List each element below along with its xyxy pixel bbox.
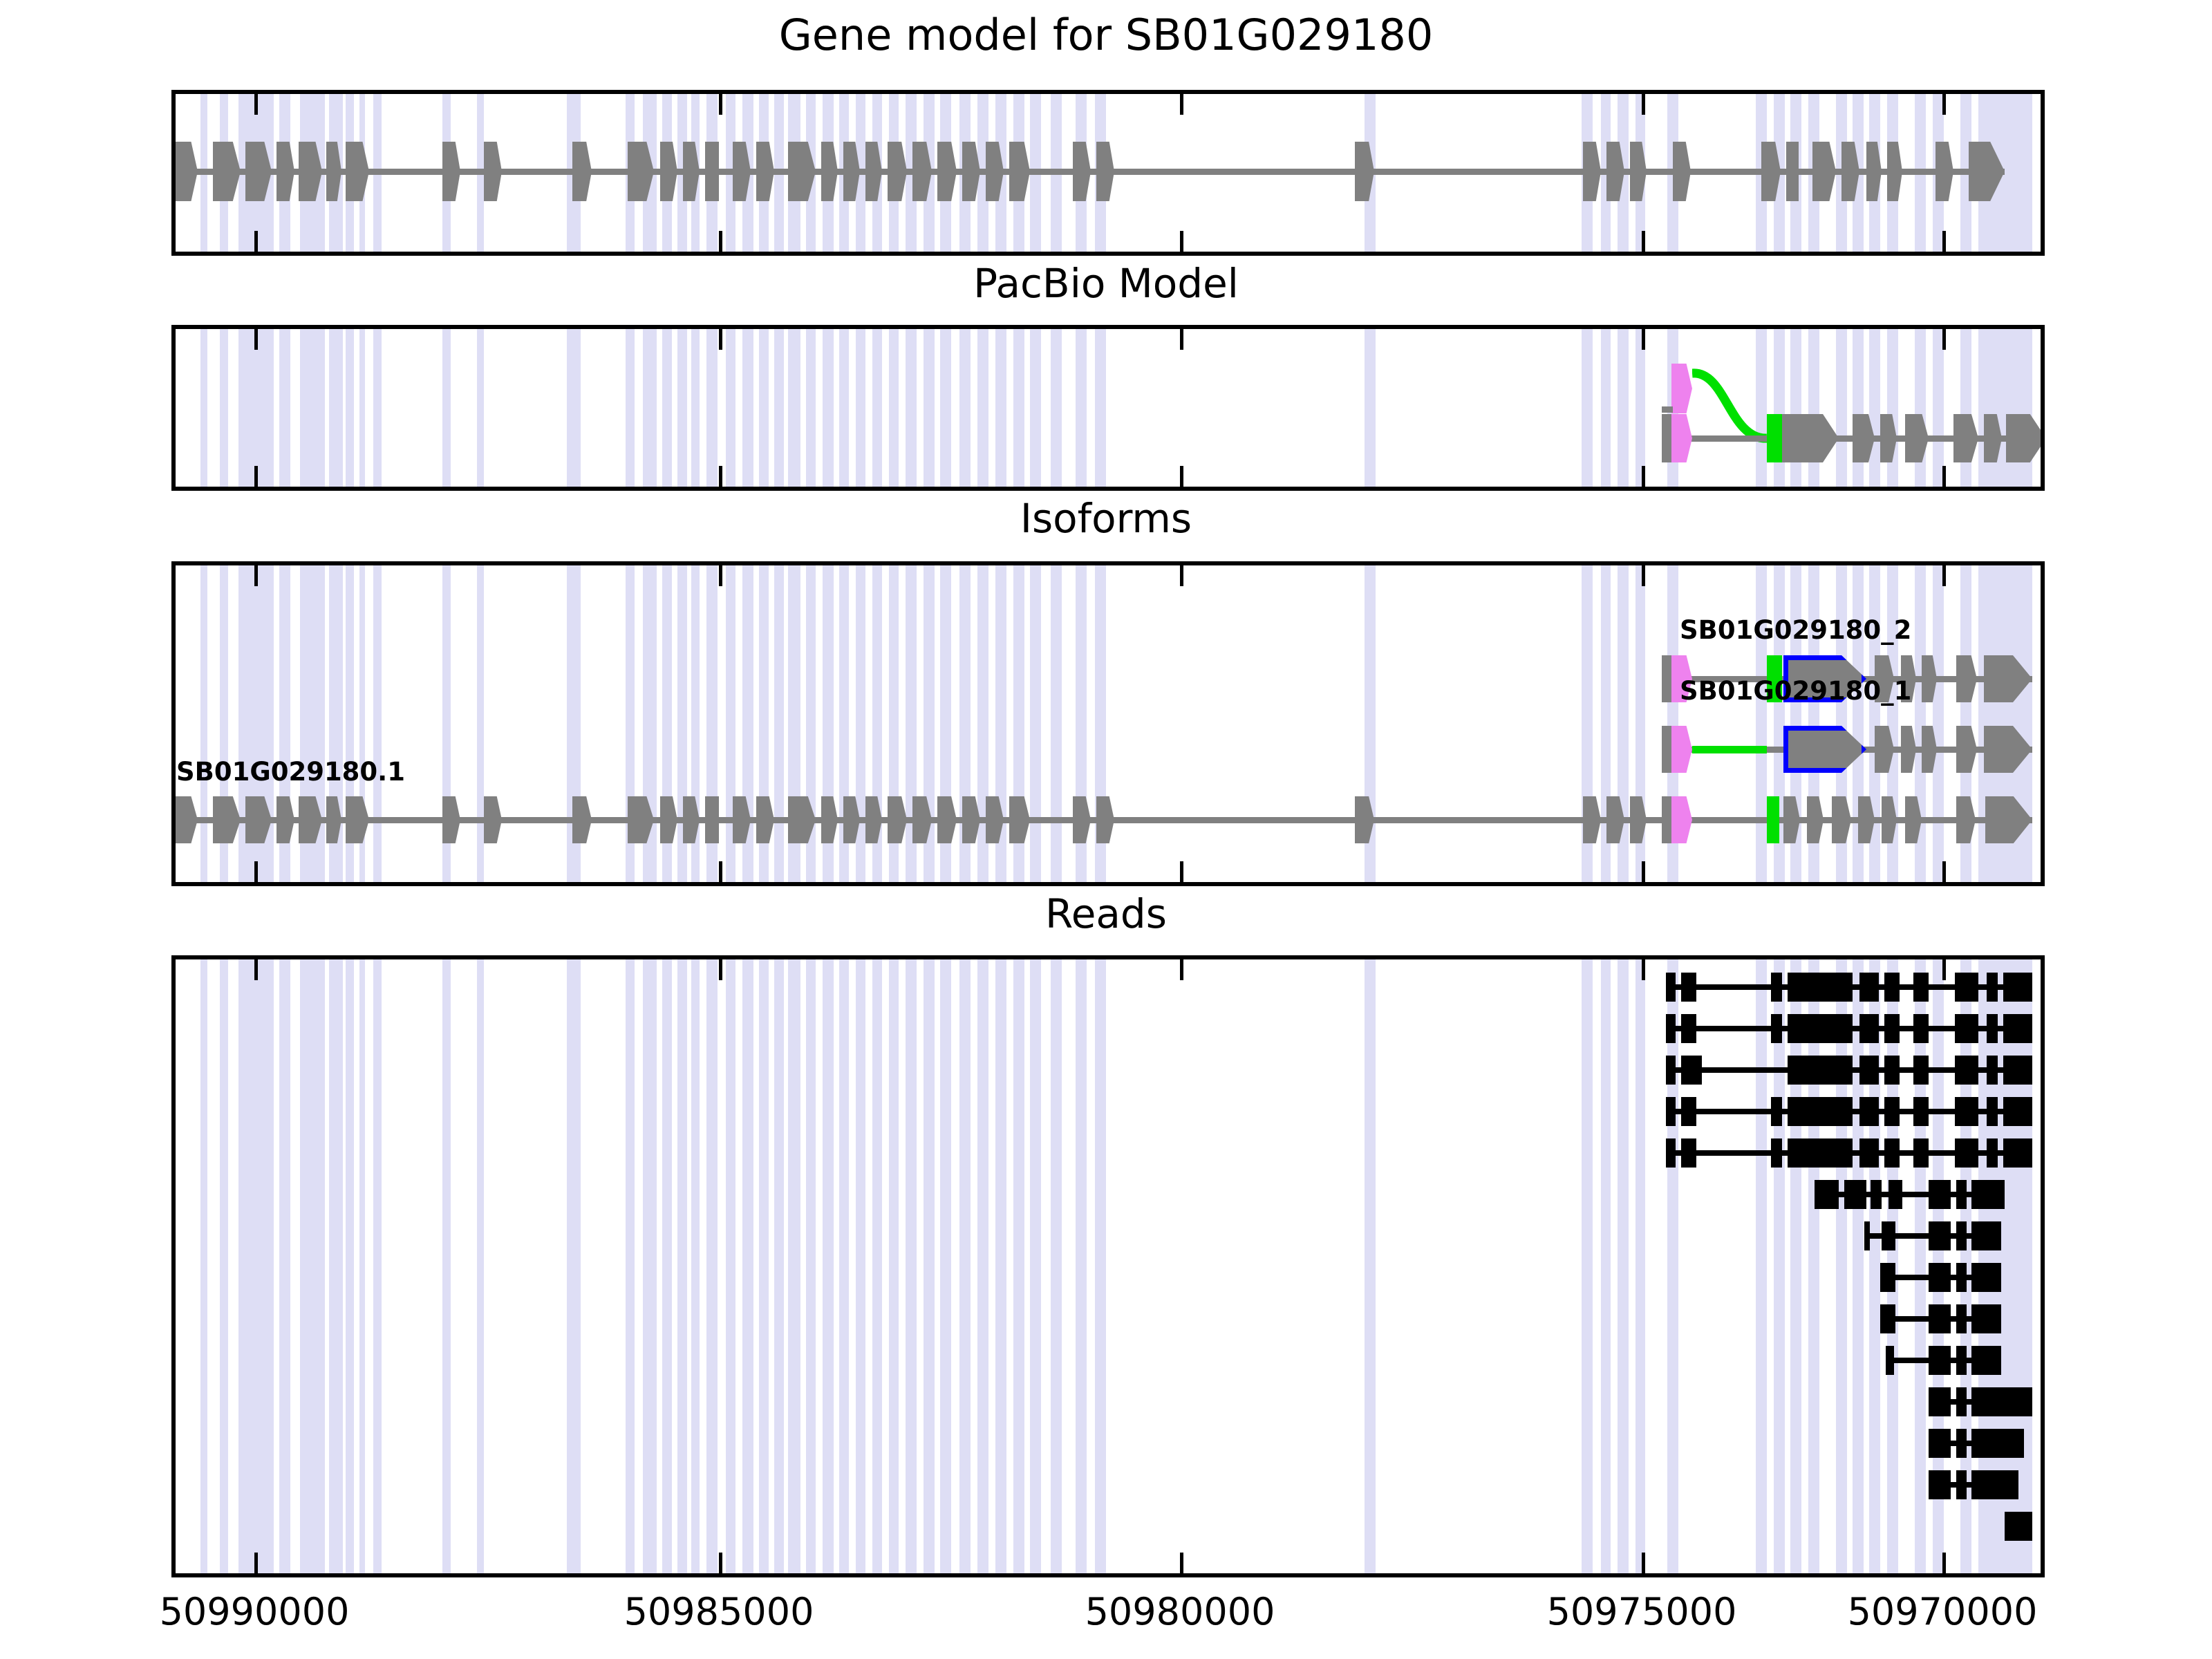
exon-block <box>1073 796 1091 843</box>
highlight-band <box>977 329 988 487</box>
exon-block-utr <box>1671 726 1692 773</box>
exon-block <box>213 142 241 201</box>
read-block <box>1884 1138 1900 1168</box>
exon-block <box>213 796 241 843</box>
read-block <box>1956 1180 1967 1209</box>
read-block <box>1666 1014 1676 1043</box>
read-block <box>1956 1387 1967 1416</box>
highlight-band <box>477 565 484 882</box>
axis-tick-bottom <box>719 231 722 252</box>
transcript-intron-line-alt <box>1662 406 1673 413</box>
highlight-band <box>300 959 325 1573</box>
read-block <box>1666 973 1676 1002</box>
highlight-band <box>706 959 718 1573</box>
highlight-band <box>995 329 1006 487</box>
highlight-band <box>220 959 228 1573</box>
exon-block <box>2006 414 2045 462</box>
axis-tick-bottom <box>1180 231 1183 252</box>
highlight-band <box>759 329 769 487</box>
highlight-band <box>1365 959 1376 1573</box>
highlight-band <box>1030 565 1041 882</box>
highlight-band <box>200 959 207 1573</box>
highlight-band <box>823 959 834 1573</box>
exon-block <box>1935 142 1953 201</box>
highlight-band <box>1051 959 1062 1573</box>
highlight-band <box>1978 329 2032 487</box>
read-block <box>1666 1056 1676 1085</box>
read-block <box>1987 973 1998 1002</box>
read-block <box>1913 1014 1929 1043</box>
axis-tick-bottom <box>1942 466 1946 487</box>
highlight-band <box>346 959 354 1573</box>
gene-model-plot-area <box>176 94 2041 252</box>
highlight-band <box>300 329 325 487</box>
read-block <box>1884 973 1900 1002</box>
axis-tick-top <box>719 565 722 586</box>
highlight-band <box>677 329 687 487</box>
axis-tick-bottom <box>1642 466 1645 487</box>
read-block <box>1971 1387 2032 1416</box>
exon-block-utr <box>1671 414 1692 462</box>
read-block <box>1987 1097 1998 1126</box>
highlight-band <box>1887 329 1898 487</box>
read-block <box>2003 973 2032 1002</box>
exon-block <box>705 142 719 201</box>
exon-block <box>1096 796 1114 843</box>
highlight-band <box>856 959 865 1573</box>
read-block <box>1955 973 1978 1002</box>
read-block <box>1859 1056 1879 1085</box>
read-block <box>1971 1470 2018 1499</box>
highlight-band <box>1960 329 1971 487</box>
read-block <box>2003 1138 2032 1168</box>
highlight-band <box>726 959 735 1573</box>
read-block <box>1971 1180 2005 1209</box>
highlight-band <box>1774 959 1785 1573</box>
read-block <box>1971 1263 2001 1292</box>
highlight-band <box>924 959 935 1573</box>
read-block <box>1929 1429 1951 1458</box>
highlight-band <box>359 329 365 487</box>
highlight-band <box>1635 329 1645 487</box>
axis-tick-bottom <box>1942 231 1946 252</box>
read-block <box>1956 1263 1967 1292</box>
exon-block <box>346 142 369 201</box>
highlight-band <box>1836 959 1847 1573</box>
highlight-band <box>1582 329 1593 487</box>
exon-block <box>1673 142 1691 201</box>
read-block <box>1771 1014 1782 1043</box>
highlight-band <box>823 329 834 487</box>
exon-block <box>1887 142 1902 201</box>
x-axis-tick-label: 50985000 <box>624 1590 814 1633</box>
read-block <box>1859 1138 1879 1168</box>
exon-block <box>1583 796 1601 843</box>
read-block <box>1929 1346 1951 1375</box>
read-block <box>1929 1221 1951 1250</box>
highlight-band <box>1618 329 1629 487</box>
axis-tick-top <box>1180 565 1183 586</box>
highlight-band <box>279 959 290 1573</box>
exon-block <box>1096 142 1114 201</box>
axis-tick-bottom <box>719 1553 722 1573</box>
highlight-band <box>889 959 899 1573</box>
read-block <box>1971 1429 2024 1458</box>
exon-block <box>1786 142 1799 201</box>
axis-tick-bottom <box>254 861 258 882</box>
axis-tick-top <box>719 94 722 115</box>
reads-plot-area <box>176 959 2041 1573</box>
exon-block <box>1901 726 1916 773</box>
highlight-band <box>1095 329 1106 487</box>
highlight-band <box>706 329 718 487</box>
exon-block <box>1832 796 1851 843</box>
axis-tick-top <box>254 959 258 980</box>
highlight-band <box>872 959 882 1573</box>
highlight-band <box>1774 329 1785 487</box>
read-block <box>1913 973 1929 1002</box>
highlight-band <box>839 959 849 1573</box>
axis-tick-bottom <box>1642 861 1645 882</box>
highlight-band <box>977 959 988 1573</box>
highlight-band <box>1051 565 1062 882</box>
axis-tick-top <box>719 959 722 980</box>
highlight-band <box>856 565 865 882</box>
axis-tick-top <box>254 329 258 350</box>
axis-tick-top <box>1642 565 1645 586</box>
axis-tick-bottom <box>254 231 258 252</box>
read-block <box>1913 1097 1929 1126</box>
highlight-band <box>373 565 382 882</box>
highlight-band <box>1013 329 1024 487</box>
read-block <box>1882 1221 1895 1250</box>
read-block <box>1859 973 1879 1002</box>
read-block <box>1971 1221 2001 1250</box>
highlight-band <box>1030 959 1041 1573</box>
axis-tick-bottom <box>1180 861 1183 882</box>
read-block <box>1913 1056 1929 1085</box>
highlight-band <box>906 959 917 1573</box>
axis-tick-top <box>1642 329 1645 350</box>
highlight-band <box>1635 959 1645 1573</box>
exon-block <box>705 796 719 843</box>
splice-junction-arc <box>1692 364 1771 445</box>
read-block <box>1681 1097 1696 1126</box>
x-axis-tick-label: 50975000 <box>1547 1590 1737 1633</box>
highlight-band <box>677 959 687 1573</box>
highlight-band <box>839 329 849 487</box>
x-axis-tick-label: 50970000 <box>1848 1590 2038 1633</box>
exon-block <box>937 796 957 843</box>
panel-title-reads: Reads <box>0 890 2212 937</box>
axis-tick-top <box>254 94 258 115</box>
highlight-band <box>1076 959 1087 1573</box>
axis-tick-bottom <box>719 466 722 487</box>
highlight-band <box>329 329 343 487</box>
highlight-band <box>1076 329 1087 487</box>
highlight-band <box>1756 565 1767 882</box>
highlight-band <box>995 959 1006 1573</box>
read-block <box>2003 1056 2032 1085</box>
exon-block <box>1956 655 1977 702</box>
highlight-band <box>691 959 700 1573</box>
axis-tick-bottom <box>254 1553 258 1573</box>
exon-block <box>1953 414 1978 462</box>
read-block <box>1681 1138 1696 1168</box>
highlight-band <box>774 959 784 1573</box>
axis-tick-top <box>1942 329 1946 350</box>
exon-block <box>442 796 460 843</box>
exon-block <box>346 796 369 843</box>
read-block <box>1884 1056 1900 1085</box>
exon-block <box>756 796 774 843</box>
figure-root: Gene model for SB01G029180 PacBio Model … <box>0 0 2212 1659</box>
panel-title-pacbio: PacBio Model <box>0 260 2212 307</box>
axis-tick-top <box>1642 94 1645 115</box>
highlight-band <box>924 329 935 487</box>
read-block <box>1929 1180 1951 1209</box>
read-block <box>1788 1056 1853 1085</box>
exon-block <box>484 142 502 201</box>
highlight-band <box>626 329 635 487</box>
read-block <box>1864 1221 1870 1250</box>
read-block <box>1971 1304 2001 1333</box>
highlight-band <box>872 329 882 487</box>
highlight-band <box>1030 329 1041 487</box>
exon-block <box>756 142 774 201</box>
exon-block <box>821 142 838 201</box>
axis-tick-bottom <box>1180 466 1183 487</box>
highlight-band <box>1933 565 1944 882</box>
exon-block <box>1583 142 1601 201</box>
exon-block <box>1782 414 1839 462</box>
read-block <box>1956 1346 1967 1375</box>
highlight-band <box>788 959 800 1573</box>
read-block <box>1929 1304 1951 1333</box>
highlight-band <box>1095 959 1106 1573</box>
highlight-band <box>1915 329 1926 487</box>
highlight-band <box>1853 959 1864 1573</box>
read-block <box>1955 1138 1978 1168</box>
axis-tick-bottom <box>1180 1553 1183 1573</box>
exon-block <box>1956 796 1976 843</box>
exon-block <box>1009 796 1030 843</box>
highlight-band <box>1051 329 1062 487</box>
read-block <box>1771 973 1782 1002</box>
transcript-label: SB01G029180_2 <box>1680 615 1911 645</box>
highlight-band <box>774 565 784 882</box>
exon-block-start-codon <box>1767 414 1782 462</box>
read-block <box>1955 1097 1978 1126</box>
highlight-band <box>238 329 274 487</box>
highlight-band <box>662 329 672 487</box>
highlight-band <box>200 565 207 882</box>
isoforms-plot-area <box>176 565 2041 882</box>
exon-block <box>937 142 957 201</box>
read-block <box>1681 973 1696 1002</box>
read-block <box>1888 1180 1902 1209</box>
exon-block <box>1812 142 1836 201</box>
highlight-band <box>1667 959 1678 1573</box>
exon-block <box>276 142 294 201</box>
highlight-band <box>1365 329 1376 487</box>
highlight-band <box>1869 329 1880 487</box>
highlight-band <box>643 329 657 487</box>
highlight-band <box>200 329 207 487</box>
panel-reads[interactable] <box>171 955 2045 1577</box>
read-block <box>1788 973 1853 1002</box>
read-block <box>1788 1014 1853 1043</box>
highlight-band <box>1790 959 1801 1573</box>
read-block <box>1666 1097 1676 1126</box>
panel-isoforms[interactable] <box>171 561 2045 886</box>
read-block <box>1815 1180 1839 1209</box>
axis-tick-top <box>1180 329 1183 350</box>
highlight-band <box>442 329 451 487</box>
exon-block <box>1073 142 1091 201</box>
pacbio-plot-area <box>176 329 2041 487</box>
highlight-band <box>1933 329 1944 487</box>
highlight-band <box>806 329 816 487</box>
exon-block-utr-alt <box>1671 364 1692 413</box>
highlight-band <box>742 329 753 487</box>
highlight-band <box>1869 959 1880 1573</box>
read-block <box>1681 1056 1702 1085</box>
page-title: Gene model for SB01G029180 <box>0 10 2212 60</box>
highlight-band <box>774 329 784 487</box>
read-block <box>1987 1014 1998 1043</box>
exon-block <box>276 796 294 843</box>
highlight-band <box>742 959 753 1573</box>
exon-block <box>572 142 592 201</box>
panel-gene-model[interactable] <box>171 90 2045 256</box>
transcript-label: SB01G029180.1 <box>176 757 405 787</box>
highlight-band <box>856 329 865 487</box>
read-block <box>1871 1180 1882 1209</box>
highlight-band <box>940 959 951 1573</box>
highlight-band <box>1582 959 1593 1573</box>
highlight-band <box>1601 329 1611 487</box>
highlight-band <box>643 959 657 1573</box>
highlight-band <box>1618 959 1629 1573</box>
read-block <box>1987 1138 1998 1168</box>
read-block <box>1956 1429 1967 1458</box>
exon-block <box>442 142 460 201</box>
read-block <box>1987 1056 1998 1085</box>
read-block <box>1880 1263 1895 1292</box>
exon-block <box>660 796 677 843</box>
axis-tick-bottom <box>1642 231 1645 252</box>
read-block <box>1859 1097 1879 1126</box>
read-block <box>1666 1138 1676 1168</box>
read-block <box>1956 1470 1967 1499</box>
transcript-label: SB01G029180_1 <box>1680 676 1911 706</box>
highlight-band <box>726 329 735 487</box>
highlight-band <box>959 329 971 487</box>
highlight-band <box>279 329 290 487</box>
highlight-band <box>442 959 451 1573</box>
read-block <box>2003 1014 2032 1043</box>
highlight-band <box>477 959 484 1573</box>
read-block <box>1929 1263 1951 1292</box>
read-block <box>2005 1512 2032 1541</box>
exon-block <box>821 796 838 843</box>
read-block <box>1929 1387 1951 1416</box>
highlight-band <box>477 329 484 487</box>
highlight-band <box>1790 329 1801 487</box>
x-axis-tick-label: 50990000 <box>160 1590 350 1633</box>
read-block <box>1913 1138 1929 1168</box>
read-block <box>1788 1138 1853 1168</box>
read-block <box>1771 1097 1782 1126</box>
highlight-band <box>1836 329 1847 487</box>
highlight-band <box>346 329 354 487</box>
exon-block <box>572 796 592 843</box>
read-block <box>1955 1014 1978 1043</box>
read-block <box>1971 1346 2001 1375</box>
exon-block <box>1009 142 1030 201</box>
highlight-band <box>889 329 899 487</box>
highlight-band <box>567 329 581 487</box>
axis-tick-top <box>1942 959 1946 980</box>
highlight-band <box>759 959 769 1573</box>
exon-block <box>888 142 907 201</box>
highlight-band <box>1601 959 1611 1573</box>
exon-block <box>484 796 502 843</box>
axis-tick-top <box>719 329 722 350</box>
axis-tick-bottom <box>1942 1553 1946 1573</box>
axis-tick-bottom <box>254 466 258 487</box>
read-block <box>2003 1097 2032 1126</box>
highlight-band <box>1853 329 1864 487</box>
highlight-band <box>906 329 917 487</box>
highlight-band <box>220 329 228 487</box>
axis-tick-bottom <box>719 861 722 882</box>
exon-block <box>174 796 198 843</box>
highlight-band <box>329 959 343 1573</box>
exon-block-start-codon <box>1767 796 1779 843</box>
read-block <box>1884 1014 1900 1043</box>
highlight-band <box>1808 329 1819 487</box>
highlight-band <box>1756 959 1767 1573</box>
panel-pacbio-model[interactable] <box>171 325 2045 491</box>
highlight-band <box>662 959 672 1573</box>
highlight-band <box>238 959 274 1573</box>
exon-block <box>1956 726 1977 773</box>
highlight-band <box>359 959 365 1573</box>
exon-block <box>660 142 677 201</box>
read-block <box>1771 1138 1782 1168</box>
highlight-band <box>806 959 816 1573</box>
read-block <box>1955 1056 1978 1085</box>
read-block <box>1880 1304 1895 1333</box>
read-block <box>1884 1097 1900 1126</box>
read-block <box>1788 1097 1853 1126</box>
highlight-band <box>567 959 581 1573</box>
panel-title-isoforms: Isoforms <box>0 495 2212 542</box>
highlight-band <box>1013 959 1024 1573</box>
axis-tick-top <box>1180 959 1183 980</box>
highlight-band <box>1808 959 1819 1573</box>
highlight-band <box>626 959 635 1573</box>
exon-block <box>1807 796 1824 843</box>
highlight-band <box>373 329 382 487</box>
read-block <box>1956 1221 1967 1250</box>
read-block <box>1681 1014 1696 1043</box>
green-intron-line <box>1692 746 1767 753</box>
read-block <box>1859 1014 1879 1043</box>
axis-tick-bottom <box>1942 861 1946 882</box>
